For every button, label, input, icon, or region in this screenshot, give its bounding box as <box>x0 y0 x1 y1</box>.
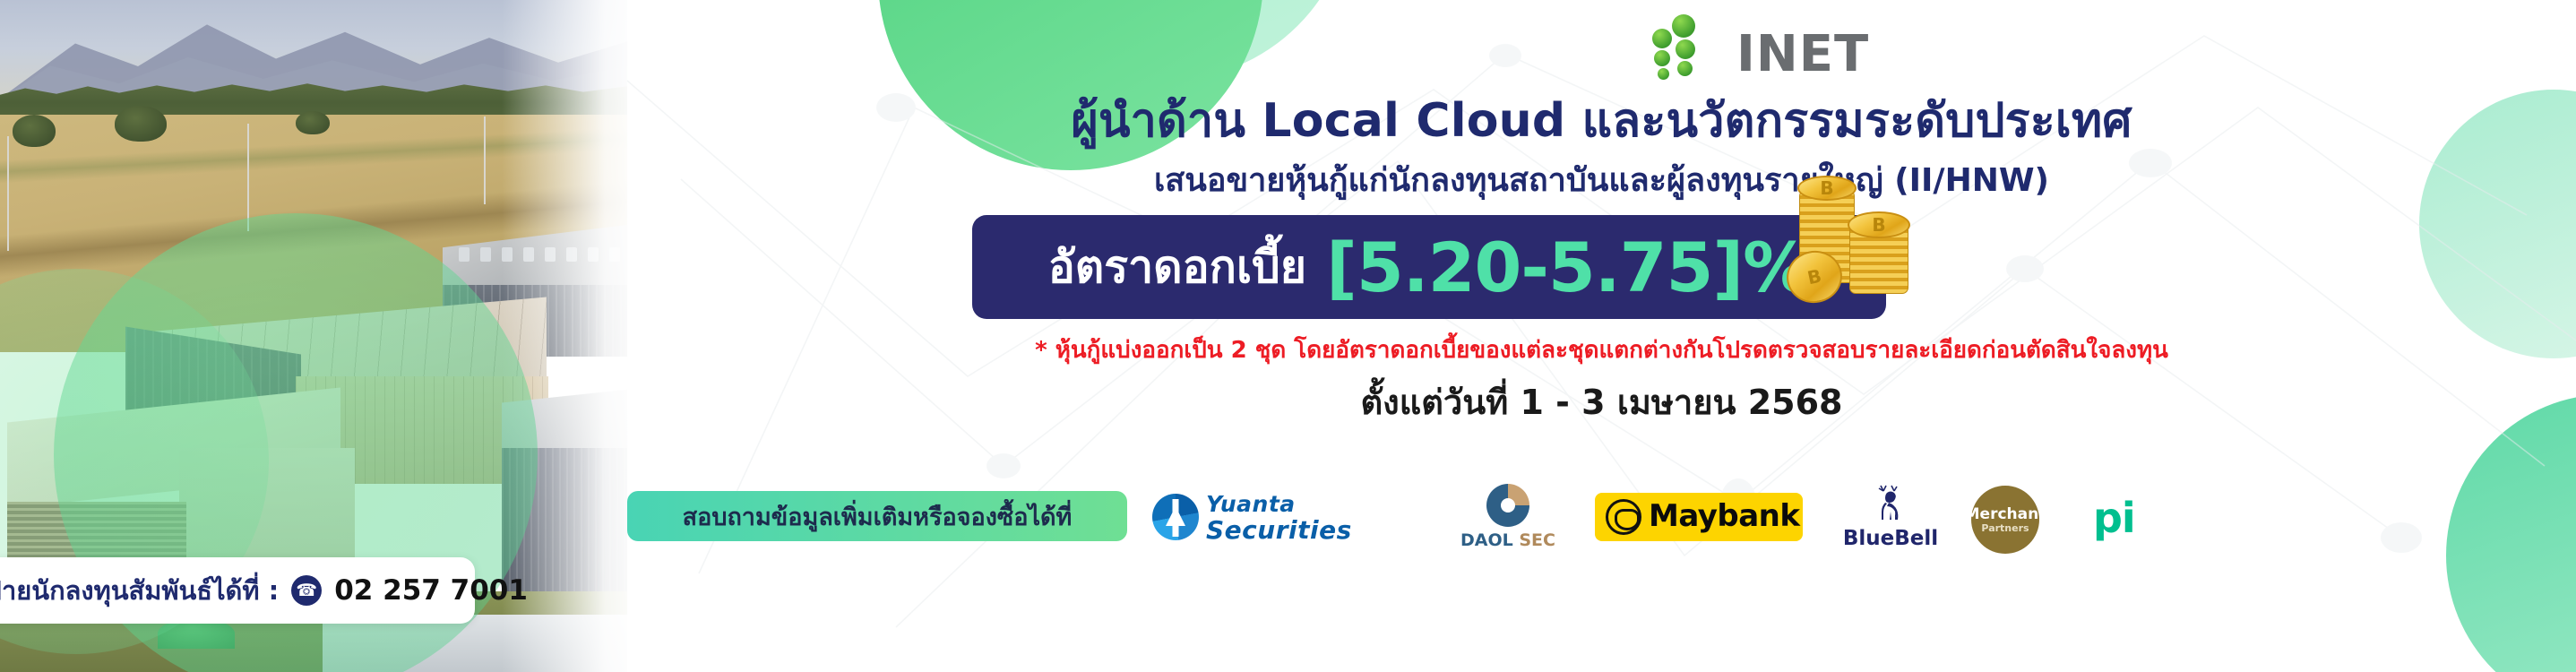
disclaimer-text: * หุ้นกู้แบ่งออกเป็น 2 ชุด โดยอัตราดอกเบ… <box>627 332 2576 368</box>
partner-logo-daol[interactable]: DAOL SEC <box>1441 484 1575 552</box>
pi-wordmark: pi <box>2093 497 2135 538</box>
bluebell-wordmark: BlueBell <box>1843 527 1938 550</box>
daol-circle-icon <box>1486 484 1529 527</box>
utility-pole <box>7 136 9 251</box>
inet-dots-icon <box>1652 13 1735 79</box>
partner-logo-pi[interactable]: pi <box>2093 491 2183 545</box>
inet-logo: INET <box>1652 13 1948 81</box>
interest-rate-section: อัตราดอกเบี้ย [5.20-5.75]% B B B <box>627 215 2576 319</box>
utility-pole <box>247 124 249 231</box>
maybank-tiger-icon <box>1606 499 1641 535</box>
promotional-banner: INET ผู้นำด้าน Local Cloud และนวัตกรรมระ… <box>0 0 2576 672</box>
tree <box>115 106 167 142</box>
utility-pole <box>484 116 486 204</box>
partner-logo-yuanta[interactable]: Yuanta Securities <box>1152 489 1412 545</box>
merchant-line-1: Merchant <box>1965 506 2046 522</box>
daol-wordmark: DAOL SEC <box>1460 530 1555 550</box>
maybank-wordmark: Maybank <box>1649 498 1800 534</box>
investor-relations-contact[interactable]: ติดต่อฝ่ายนักลงทุนสัมพันธ์ได้ที่ : ☎ 02 … <box>0 557 475 624</box>
coin-symbol: B <box>1799 177 1855 199</box>
bluebell-deer-icon <box>1871 484 1910 525</box>
partner-logo-merchant-partners[interactable]: Merchant Partners <box>1971 486 2039 554</box>
gold-coins-icon: B B B <box>1783 174 1935 335</box>
banner-content: INET ผู้นำด้าน Local Cloud และนวัตกรรมระ… <box>627 0 2576 672</box>
coin-symbol: B <box>1784 248 1845 306</box>
inet-logo-text: INET <box>1736 29 1869 81</box>
phone-icon: ☎ <box>291 575 322 606</box>
page-title: ผู้นำด้าน Local Cloud และนวัตกรรมระดับปร… <box>627 82 2576 157</box>
partner-logo-bluebell[interactable]: BlueBell <box>1828 484 1953 554</box>
contact-label: ติดต่อฝ่ายนักลงทุนสัมพันธ์ได้ที่ : <box>0 570 279 611</box>
coin-symbol: B <box>1849 213 1908 237</box>
yuanta-star-icon <box>1152 494 1199 540</box>
interest-rate-value: [5.20-5.75]% <box>1326 228 1810 307</box>
page-subtitle: เสนอขายหุ้นกู้แก่นักลงทุนสถาบันและผู้ลงท… <box>627 154 2576 205</box>
interest-rate-label: อัตราดอกเบี้ย <box>1048 232 1306 303</box>
tree <box>13 115 56 147</box>
offering-date: ตั้งแต่วันที่ 1 - 3 เมษายน 2568 <box>627 375 2576 429</box>
partner-logo-maybank[interactable]: Maybank <box>1595 493 1803 541</box>
contact-phone-number: 02 257 7001 <box>334 574 528 607</box>
merchant-line-2: Partners <box>1981 522 2029 534</box>
inquiry-cta-button[interactable]: สอบถามข้อมูลเพิ่มเติมหรือจองซื้อได้ที่ <box>627 491 1127 541</box>
partners-row: สอบถามข้อมูลเพิ่มเติมหรือจองซื้อได้ที่ Y… <box>627 482 2576 563</box>
interest-rate-box: อัตราดอกเบี้ย [5.20-5.75]% <box>972 215 1886 319</box>
tree <box>296 111 330 134</box>
yuanta-wordmark: Yuanta Securities <box>1206 493 1352 546</box>
photo-fade-overlay <box>502 0 627 672</box>
